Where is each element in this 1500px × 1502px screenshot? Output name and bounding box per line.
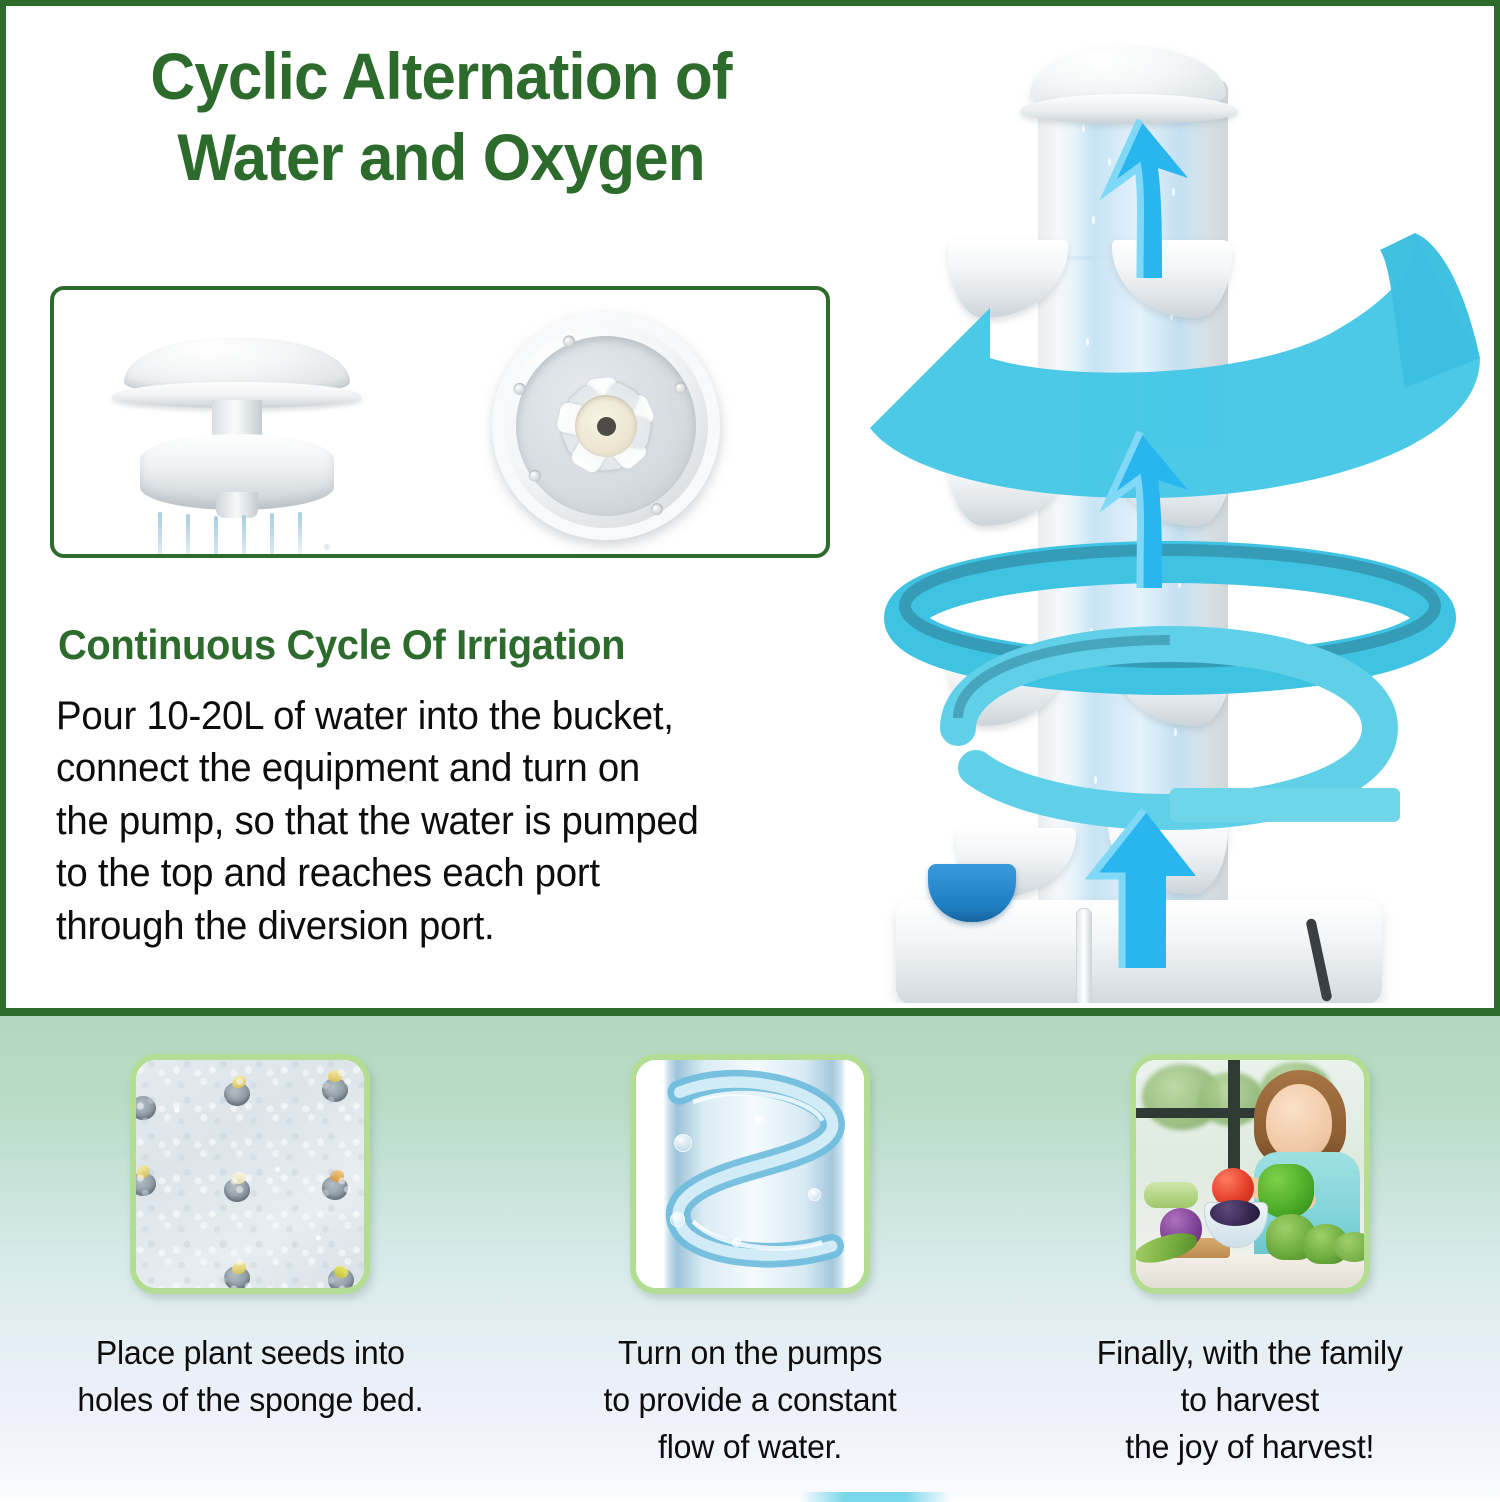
upward-flow-arrows — [840, 28, 1490, 1003]
step-3-caption-line-1: Finally, with the family — [1097, 1330, 1403, 1377]
up-arrow-icon-3 — [1092, 810, 1196, 968]
water-flow-tube-photo — [630, 1054, 870, 1294]
product-parts-photo-box — [50, 286, 830, 558]
step-3-caption-line-2: to harvest — [1097, 1377, 1403, 1424]
step-caption-1: Place plant seeds into holes of the spon… — [77, 1330, 423, 1424]
step-1-caption-line-2: holes of the sponge bed. — [77, 1377, 423, 1424]
body-line-2: connect the equipment and turn on — [56, 742, 814, 794]
step-2-caption-line-3: flow of water. — [603, 1424, 896, 1471]
step-item-2: Turn on the pumps to provide a constant … — [500, 1016, 1000, 1500]
step-2-caption-line-1: Turn on the pumps — [603, 1330, 896, 1377]
step-1-caption-line-1: Place plant seeds into — [77, 1330, 423, 1377]
up-arrow-icon-2 — [1108, 432, 1188, 588]
step-item-1: Place plant seeds into holes of the spon… — [0, 1016, 500, 1500]
diversion-port-disc-icon — [481, 301, 732, 552]
step-caption-3: Finally, with the family to harvest the … — [1097, 1330, 1403, 1471]
section-divider — [0, 1008, 1500, 1016]
step-2-caption-line-2: to provide a constant — [603, 1377, 896, 1424]
sprinkler-diffuser-head-icon — [112, 316, 362, 536]
hydroponic-tower-water-cycle-diagram — [840, 28, 1490, 1003]
step-3-caption-line-3: the joy of harvest! — [1097, 1424, 1403, 1471]
bottom-edge-sliver — [800, 1492, 950, 1502]
body-line-3: the pump, so that the water is pumped — [56, 795, 814, 847]
step-caption-2: Turn on the pumps to provide a constant … — [603, 1330, 896, 1471]
body-line-1: Pour 10-20L of water into the bucket, — [56, 690, 814, 742]
steps-row: Place plant seeds into holes of the spon… — [0, 1016, 1500, 1500]
headline-line-1: Cyclic Alternation of — [70, 36, 813, 117]
top-section: Cyclic Alternation of Water and Oxygen — [0, 0, 1500, 1015]
headline-line-2: Water and Oxygen — [70, 117, 813, 198]
bottom-section: Place plant seeds into holes of the spon… — [0, 1016, 1500, 1500]
infographic-page: Cyclic Alternation of Water and Oxygen — [0, 0, 1500, 1500]
body-paragraph: Pour 10-20L of water into the bucket, co… — [56, 690, 814, 952]
girl-harvest-vegetables-photo — [1130, 1054, 1370, 1294]
section-subtitle: Continuous Cycle Of Irrigation — [58, 622, 809, 668]
body-line-4: to the top and reaches each port — [56, 847, 814, 899]
page-title: Cyclic Alternation of Water and Oxygen — [70, 36, 813, 197]
body-line-5: through the diversion port. — [56, 900, 814, 952]
sponge-bed-seeds-photo — [130, 1054, 370, 1294]
up-arrow-icon-1 — [1108, 120, 1188, 278]
step-item-3: Finally, with the family to harvest the … — [1000, 1016, 1500, 1500]
